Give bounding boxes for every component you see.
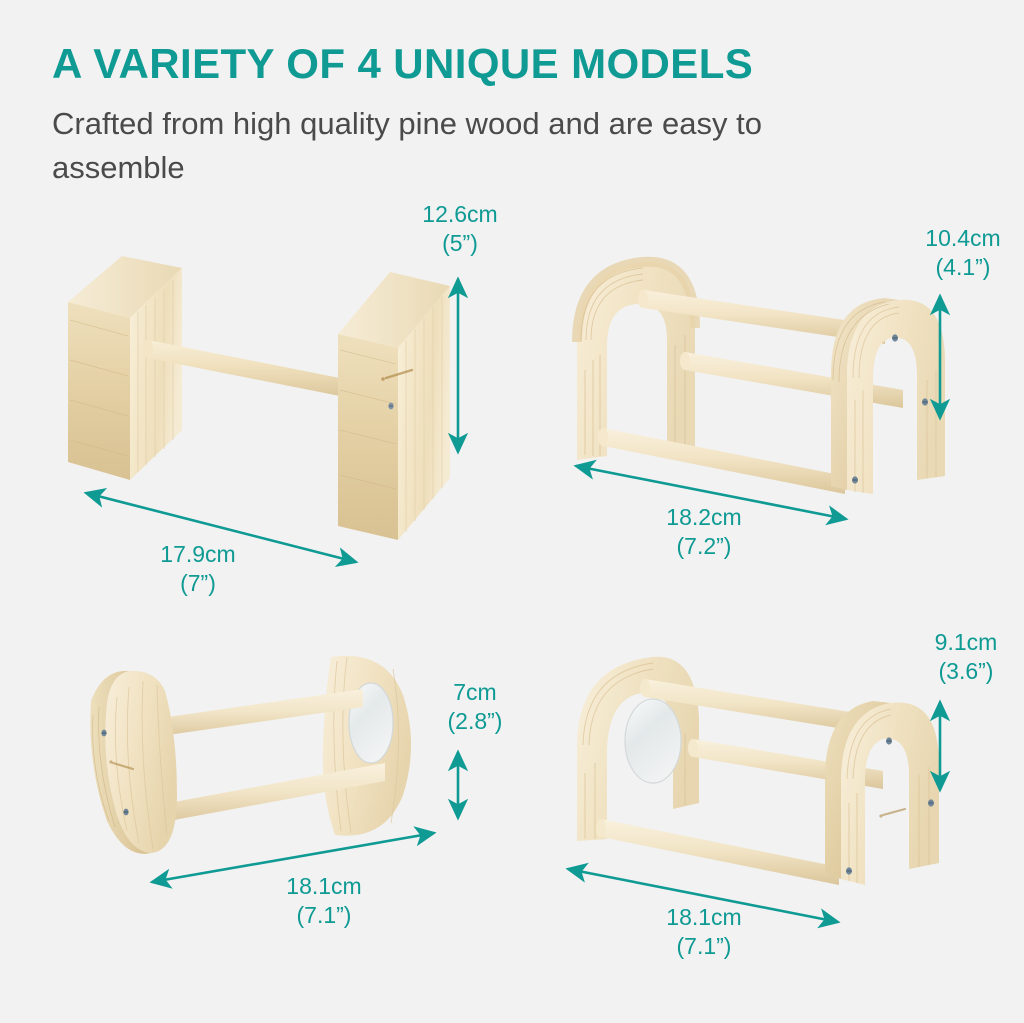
dimension-inch: (7.1”)	[634, 932, 774, 961]
dimension-cm: 12.6cm	[422, 201, 497, 227]
left-oval-panel	[90, 671, 177, 854]
dimension-cm: 10.4cm	[925, 225, 1000, 251]
dimension-label-model-3-height: 7cm (2.8”)	[420, 678, 530, 737]
dimension-inch: (5”)	[400, 229, 520, 258]
dimension-cm: 18.1cm	[666, 904, 741, 930]
dimension-cm: 7cm	[453, 679, 496, 705]
product-image-model-4	[553, 643, 943, 898]
dimension-inch: (4.1”)	[902, 253, 1024, 282]
product-image-model-3	[85, 645, 475, 895]
left-board	[68, 256, 182, 480]
dimension-label-model-2-height: 10.4cm (4.1”)	[902, 224, 1024, 283]
right-board	[338, 272, 450, 540]
dimension-inch: (7.2”)	[634, 532, 774, 561]
screw-head	[101, 730, 106, 737]
bottom-dowel	[596, 819, 839, 885]
right-oval-panel	[323, 656, 411, 836]
screw-head	[123, 809, 128, 816]
dimension-cm: 17.9cm	[160, 541, 235, 567]
page-subtitle: Crafted from high quality pine wood and …	[52, 102, 852, 190]
dimension-inch: (3.6”)	[908, 657, 1024, 686]
model-1-illustration	[60, 250, 460, 550]
dimension-inch: (7”)	[128, 569, 268, 598]
screw-head	[928, 799, 934, 806]
brand-logo-mark	[879, 809, 905, 818]
infographic-page: A VARIETY OF 4 UNIQUE MODELS Crafted fro…	[0, 0, 1024, 1023]
product-image-model-1	[60, 250, 460, 550]
screw-head	[852, 476, 858, 483]
dimension-inch: (2.8”)	[420, 707, 530, 736]
dimension-cm: 18.1cm	[286, 873, 361, 899]
screw-head	[886, 737, 892, 744]
screw-head	[922, 398, 928, 405]
screw-head	[892, 334, 898, 341]
dimension-label-model-2-width: 18.2cm (7.2”)	[634, 503, 774, 562]
dimension-label-model-4-height: 9.1cm (3.6”)	[908, 628, 1024, 687]
model-2-illustration	[555, 250, 955, 520]
product-image-model-2	[555, 250, 955, 520]
bottom-dowel	[598, 428, 845, 494]
model-3-illustration	[85, 645, 475, 895]
screw-head	[388, 403, 393, 410]
left-arch-panel	[577, 657, 699, 841]
dimension-label-model-1-height: 12.6cm (5”)	[400, 200, 520, 259]
page-title: A VARIETY OF 4 UNIQUE MODELS	[52, 42, 932, 86]
dimension-inch: (7.1”)	[254, 901, 394, 930]
dimension-label-model-3-width: 18.1cm (7.1”)	[254, 872, 394, 931]
screw-head	[846, 867, 852, 874]
dimension-cm: 18.2cm	[666, 504, 741, 530]
right-arch-panel	[825, 701, 939, 885]
dimension-cm: 9.1cm	[935, 629, 998, 655]
left-arch-panel	[577, 262, 695, 460]
header: A VARIETY OF 4 UNIQUE MODELS Crafted fro…	[52, 42, 932, 190]
dimension-label-model-1-width: 17.9cm (7”)	[128, 540, 268, 599]
dimension-label-model-4-width: 18.1cm (7.1”)	[634, 903, 774, 962]
model-4-illustration	[553, 643, 943, 898]
